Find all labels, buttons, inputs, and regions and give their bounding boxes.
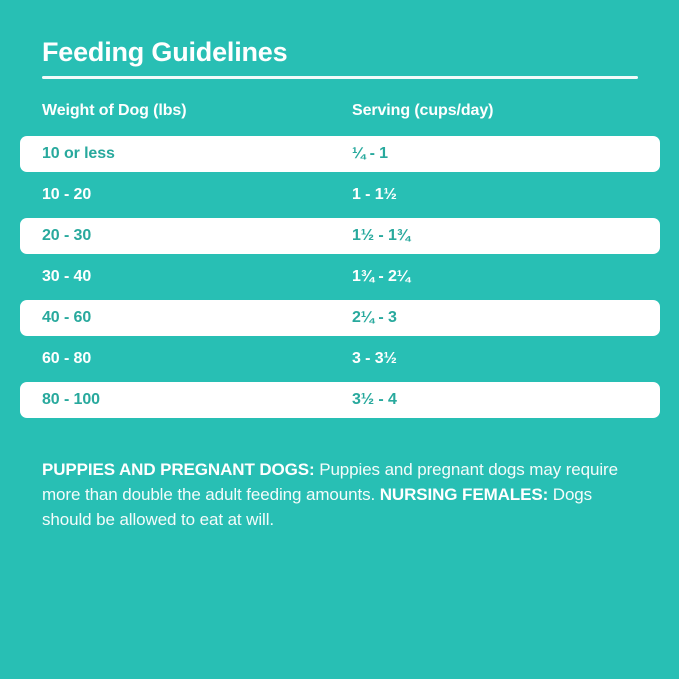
cell-serving: 1½ - 1¾ [352,227,410,245]
cell-weight: 40 - 60 [42,309,91,327]
cell-weight: 20 - 30 [42,227,91,245]
page-title: Feeding Guidelines [42,36,287,68]
cell-weight: 80 - 100 [42,391,100,409]
feeding-table: 10 or less¼ - 110 - 201 - 1½20 - 301½ - … [0,136,679,423]
table-row: 10 or less¼ - 1 [20,136,660,172]
footnote-label-puppies: PUPPIES AND PREGNANT DOGS: [42,460,315,479]
footnote-label-nursing: NURSING FEMALES: [380,485,548,504]
table-row: 80 - 1003½ - 4 [20,382,660,418]
table-row: 30 - 401¾ - 2¼ [0,259,679,295]
title-divider [42,76,638,79]
footnote: PUPPIES AND PREGNANT DOGS: Puppies and p… [42,457,642,532]
cell-weight: 10 - 20 [42,186,91,204]
cell-weight: 60 - 80 [42,350,91,368]
cell-serving: 3 - 3½ [352,350,397,368]
cell-serving: ¼ - 1 [352,145,388,163]
cell-weight: 10 or less [42,145,115,163]
column-header-serving: Serving (cups/day) [352,102,493,120]
cell-serving: 3½ - 4 [352,391,397,409]
table-row: 10 - 201 - 1½ [0,177,679,213]
cell-serving: 1¾ - 2¼ [352,268,410,286]
cell-weight: 30 - 40 [42,268,91,286]
cell-serving: 1 - 1½ [352,186,397,204]
table-row: 20 - 301½ - 1¾ [20,218,660,254]
feeding-guidelines-panel: Feeding Guidelines Weight of Dog (lbs) S… [0,0,679,679]
table-row: 40 - 602¼ - 3 [20,300,660,336]
column-header-weight: Weight of Dog (lbs) [42,102,186,120]
cell-serving: 2¼ - 3 [352,309,397,327]
table-row: 60 - 803 - 3½ [0,341,679,377]
